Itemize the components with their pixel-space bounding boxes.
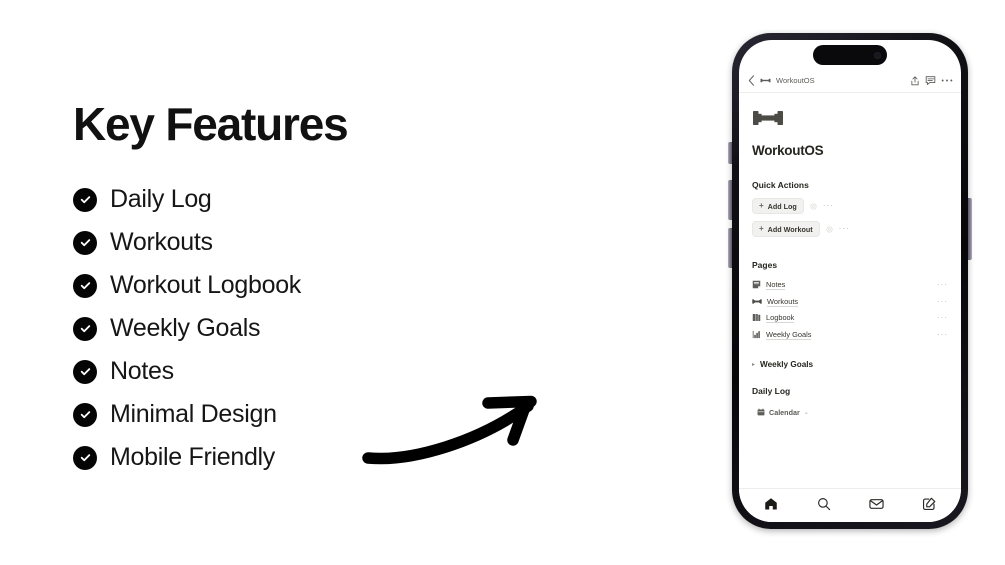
check-circle-icon — [73, 231, 97, 255]
more-horizontal-icon[interactable]: ··· — [823, 202, 834, 210]
power-button[interactable] — [968, 198, 972, 260]
sidebar-item-label: Logbook — [766, 313, 794, 323]
more-horizontal-icon[interactable] — [941, 78, 953, 83]
spacer — [752, 369, 948, 386]
section-heading-quick-actions: Quick Actions — [752, 180, 948, 190]
triangle-right-icon[interactable]: ▸ — [752, 362, 755, 368]
tab-inbox[interactable] — [859, 493, 893, 515]
dumbbell-icon — [760, 75, 771, 86]
sidebar-item-label: Weekly Goals — [766, 330, 811, 340]
spacer — [752, 243, 948, 260]
more-horizontal-icon[interactable]: ··· — [839, 225, 850, 233]
sidebar-item-workouts[interactable]: Workouts ··· — [752, 294, 948, 311]
spacer — [752, 343, 948, 360]
gear-icon[interactable] — [826, 220, 833, 238]
tab-home[interactable] — [754, 493, 788, 515]
feature-label: Mobile Friendly — [110, 445, 275, 470]
quick-action-row: + Add Workout ··· — [752, 220, 948, 238]
comment-icon[interactable] — [925, 75, 936, 86]
check-circle-icon — [73, 188, 97, 212]
toggle-block-label: Weekly Goals — [760, 360, 813, 369]
notion-page-title: WorkoutOS — [752, 143, 948, 158]
plus-icon: + — [759, 225, 764, 233]
dumbbell-icon — [752, 293, 762, 311]
notion-page-content: WorkoutOS Quick Actions + Add Log ··· — [739, 94, 961, 488]
feature-label: Workout Logbook — [110, 273, 301, 298]
phone-mockup: WorkoutOS — [726, 30, 974, 532]
dynamic-island — [813, 45, 887, 65]
check-circle-icon — [73, 360, 97, 384]
add-workout-button[interactable]: + Add Workout — [752, 221, 820, 237]
list-item: Workouts — [73, 221, 593, 264]
chevron-down-icon[interactable]: ⌄ — [804, 409, 809, 416]
chevron-left-icon[interactable] — [748, 75, 755, 86]
view-label: Calendar — [769, 408, 800, 417]
sidebar-item-weekly-goals[interactable]: Weekly Goals ··· — [752, 327, 948, 344]
curved-arrow-up-right-icon — [360, 388, 560, 473]
app-tabbar — [739, 488, 961, 522]
tab-search[interactable] — [807, 493, 841, 515]
bar-chart-icon — [752, 326, 761, 344]
app-topbar: WorkoutOS — [739, 69, 961, 93]
toggle-block-weekly-goals[interactable]: ▸ Weekly Goals — [752, 360, 948, 369]
gear-icon[interactable] — [810, 197, 817, 215]
plus-icon: + — [759, 202, 764, 210]
topbar-title: WorkoutOS — [776, 76, 815, 85]
sidebar-item-notes[interactable]: Notes ··· — [752, 277, 948, 294]
tab-compose[interactable] — [912, 493, 946, 515]
phone-screen: WorkoutOS — [739, 40, 961, 522]
add-workout-label: Add Workout — [768, 225, 813, 234]
front-camera-dot-icon — [874, 52, 881, 59]
check-circle-icon — [73, 403, 97, 427]
check-circle-icon — [73, 317, 97, 341]
books-icon — [752, 309, 761, 327]
dumbbell-icon — [752, 104, 948, 137]
check-circle-icon — [73, 274, 97, 298]
check-circle-icon — [73, 446, 97, 470]
more-horizontal-icon[interactable]: ··· — [937, 281, 948, 289]
page-title: Key Features — [73, 101, 348, 147]
list-item: Weekly Goals — [73, 307, 593, 350]
phone-frame: WorkoutOS — [732, 33, 968, 529]
database-view-selector[interactable]: Calendar ⌄ — [752, 403, 948, 421]
add-log-button[interactable]: + Add Log — [752, 198, 804, 214]
calendar-icon — [757, 403, 765, 421]
feature-label: Workouts — [110, 230, 213, 255]
slide-left-panel: Key Features Daily Log Workouts Workout … — [0, 0, 640, 565]
feature-label: Daily Log — [110, 187, 212, 212]
sidebar-item-label: Workouts — [767, 297, 798, 307]
quick-action-row: + Add Log ··· — [752, 197, 948, 215]
list-item: Workout Logbook — [73, 264, 593, 307]
list-item: Daily Log — [73, 178, 593, 221]
more-horizontal-icon[interactable]: ··· — [937, 331, 948, 339]
sidebar-item-label: Notes — [766, 280, 785, 290]
share-icon[interactable] — [910, 75, 920, 87]
section-heading-pages: Pages — [752, 260, 948, 270]
feature-label: Weekly Goals — [110, 316, 260, 341]
more-horizontal-icon[interactable]: ··· — [937, 314, 948, 322]
section-heading-daily-log: Daily Log — [752, 386, 948, 396]
feature-label: Notes — [110, 359, 174, 384]
sidebar-item-logbook[interactable]: Logbook ··· — [752, 310, 948, 327]
feature-label: Minimal Design — [110, 402, 277, 427]
more-horizontal-icon[interactable]: ··· — [937, 298, 948, 306]
list-item: Notes — [73, 350, 593, 393]
note-page-icon — [752, 276, 761, 294]
add-log-label: Add Log — [768, 202, 797, 211]
